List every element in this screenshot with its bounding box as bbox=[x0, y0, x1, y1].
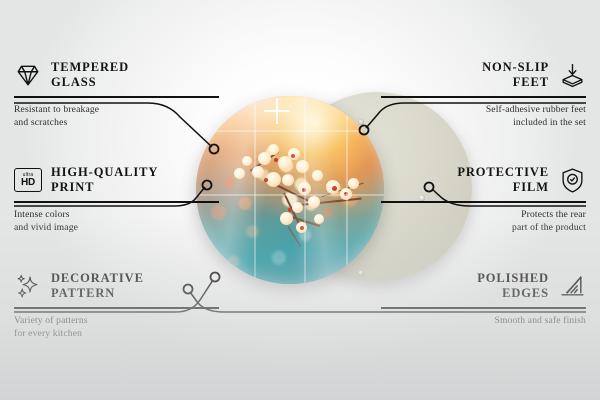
feature-title-line: FILM bbox=[457, 180, 549, 195]
feature-title-line: PROTECTIVE bbox=[457, 165, 549, 180]
feature-title: TEMPERED GLASS bbox=[51, 60, 129, 91]
feature-desc-line: included in the set bbox=[381, 116, 586, 129]
feature-desc-line: Protects the rear bbox=[381, 208, 586, 221]
printed-glass-disc bbox=[196, 96, 384, 284]
divider bbox=[14, 307, 219, 309]
feature-title-line: GLASS bbox=[51, 75, 129, 90]
feature-desc-line: Intense colors bbox=[14, 208, 219, 221]
feature-title-line: DECORATIVE bbox=[51, 271, 144, 286]
feature-header: TEMPERED GLASS bbox=[14, 58, 219, 92]
feature-description: Intense colors and vivid image bbox=[14, 208, 219, 234]
sparkles-icon bbox=[14, 272, 42, 300]
feature-desc-line: part of the product bbox=[381, 221, 586, 234]
feature-title-line: EDGES bbox=[477, 286, 549, 301]
feature-desc-line: and vivid image bbox=[14, 221, 219, 234]
feature-header: POLISHED EDGES bbox=[381, 269, 586, 303]
divider bbox=[381, 96, 586, 98]
feature-description: Resistant to breakage and scratches bbox=[14, 103, 219, 129]
ultra-hd-icon-large-label: HD bbox=[21, 178, 35, 188]
feature-title-line: HIGH-QUALITY bbox=[51, 165, 158, 180]
feature-title: DECORATIVE PATTERN bbox=[51, 271, 144, 302]
feature-description: Protects the rear part of the product bbox=[381, 208, 586, 234]
hatched-edge-icon bbox=[558, 272, 586, 300]
feature-desc-line: Self-adhesive rubber feet bbox=[381, 103, 586, 116]
divider bbox=[381, 307, 586, 309]
arrow-down-pad-icon bbox=[558, 61, 586, 89]
feature-header: DECORATIVE PATTERN bbox=[14, 269, 219, 303]
feature-description: Smooth and safe finish bbox=[381, 314, 586, 327]
feature-title-line: NON-SLIP bbox=[482, 60, 549, 75]
feature-high-quality-print: ultra HD HIGH-QUALITY PRINT Intense colo… bbox=[14, 163, 219, 234]
feature-desc-line: Variety of patterns bbox=[14, 314, 219, 327]
feature-title: NON-SLIP FEET bbox=[482, 60, 549, 91]
feature-header: ultra HD HIGH-QUALITY PRINT bbox=[14, 163, 219, 197]
feature-title-line: PRINT bbox=[51, 180, 158, 195]
feature-title-line: POLISHED bbox=[477, 271, 549, 286]
feature-header: NON-SLIP FEET bbox=[381, 58, 586, 92]
divider bbox=[381, 201, 586, 203]
feature-title-line: FEET bbox=[482, 75, 549, 90]
feature-description: Self-adhesive rubber feet included in th… bbox=[381, 103, 586, 129]
feature-title: PROTECTIVE FILM bbox=[457, 165, 549, 196]
feature-decorative-pattern: DECORATIVE PATTERN Variety of patterns f… bbox=[14, 269, 219, 340]
ultra-hd-icon: ultra HD bbox=[14, 166, 42, 194]
feature-title-line: PATTERN bbox=[51, 286, 144, 301]
feature-header: PROTECTIVE FILM bbox=[381, 163, 586, 197]
feature-description: Variety of patterns for every kitchen bbox=[14, 314, 219, 340]
feature-desc-line: Smooth and safe finish bbox=[381, 314, 586, 327]
feature-desc-line: and scratches bbox=[14, 116, 219, 129]
feature-title: HIGH-QUALITY PRINT bbox=[51, 165, 158, 196]
infographic-canvas: TEMPERED GLASS Resistant to breakage and… bbox=[0, 0, 600, 400]
feature-non-slip-feet: NON-SLIP FEET Self-adhesive rubber feet … bbox=[381, 58, 586, 129]
shield-check-icon bbox=[558, 166, 586, 194]
feature-title-line: TEMPERED bbox=[51, 60, 129, 75]
feature-protective-film: PROTECTIVE FILM Protects the rear part o… bbox=[381, 163, 586, 234]
divider bbox=[14, 201, 219, 203]
divider bbox=[14, 96, 219, 98]
glass-gloss bbox=[196, 96, 384, 284]
diamond-icon bbox=[14, 61, 42, 89]
sparkle-glint-icon bbox=[264, 98, 290, 124]
feature-polished-edges: POLISHED EDGES Smooth and safe finish bbox=[381, 269, 586, 327]
feature-title: POLISHED EDGES bbox=[477, 271, 549, 302]
feature-desc-line: for every kitchen bbox=[14, 327, 219, 340]
feature-desc-line: Resistant to breakage bbox=[14, 103, 219, 116]
feature-tempered-glass: TEMPERED GLASS Resistant to breakage and… bbox=[14, 58, 219, 129]
